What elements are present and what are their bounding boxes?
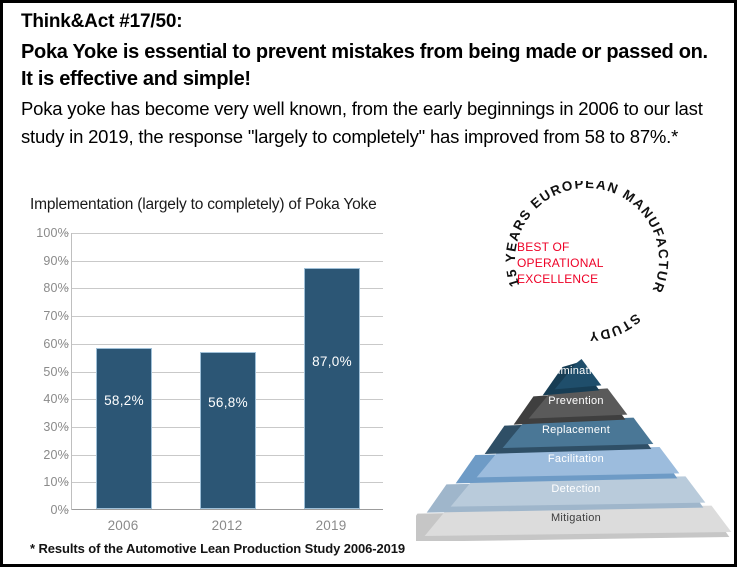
y-axis-tick-label: 30% <box>23 420 69 434</box>
y-axis-tick-label: 60% <box>23 337 69 351</box>
pyramid-level-label: Elimination <box>416 365 736 377</box>
y-axis-tick-label: 40% <box>23 392 69 406</box>
header-text-block: Think&Act #17/50: Poka Yoke is essential… <box>21 9 716 151</box>
study-badge: 15 YEARS EUROPEAN MANUFACTURING STUDY BE… <box>501 181 687 341</box>
pyramid-level-label: Mitigation <box>416 512 736 524</box>
y-axis-tick-mark <box>64 316 69 317</box>
page-title: Poka Yoke is essential to prevent mistak… <box>21 39 716 93</box>
pyramid-level-label: Replacement <box>416 424 736 436</box>
chart-title: Implementation (largely to completely) o… <box>30 196 377 214</box>
plot-area: 58,2%56,8%87,0% <box>71 233 383 510</box>
y-axis: 0%10%20%30%40%50%60%70%80%90%100% <box>21 233 69 510</box>
x-axis-tick-label: 2006 <box>71 518 175 533</box>
pyramid-level-label: Facilitation <box>416 453 736 465</box>
y-axis-tick-mark <box>64 233 69 234</box>
x-axis-tick-label: 2012 <box>175 518 279 533</box>
y-axis-tick-label: 50% <box>23 365 69 379</box>
y-axis-tick-mark <box>64 427 69 428</box>
y-axis-tick-label: 90% <box>23 254 69 268</box>
y-axis-tick-mark <box>64 455 69 456</box>
y-axis-tick-mark <box>64 510 69 511</box>
y-axis-tick-label: 100% <box>23 226 69 240</box>
gridline <box>72 233 383 234</box>
pyramid-level-label: Detection <box>416 483 736 495</box>
bar-value-label: 56,8% <box>201 395 255 410</box>
bar-value-label: 58,2% <box>97 393 151 408</box>
y-axis-tick-mark <box>64 344 69 345</box>
y-axis-tick-label: 70% <box>23 309 69 323</box>
y-axis-tick-label: 10% <box>23 475 69 489</box>
bar: 87,0% <box>304 268 360 509</box>
y-axis-tick-mark <box>64 482 69 483</box>
poka-yoke-pyramid: MitigationDetectionFacilitationReplaceme… <box>416 355 736 541</box>
footnote: * Results of the Automotive Lean Product… <box>30 541 405 556</box>
bar: 56,8% <box>200 352 256 509</box>
y-axis-tick-mark <box>64 261 69 262</box>
svg-text:STUDY: STUDY <box>588 311 644 341</box>
eyebrow-title: Think&Act #17/50: <box>21 9 716 35</box>
gridline <box>72 261 383 262</box>
badge-center-line-3: EXCELLENCE <box>517 271 604 287</box>
y-axis-tick-mark <box>64 288 69 289</box>
bar-chart: 0%10%20%30%40%50%60%70%80%90%100% 58,2%5… <box>21 228 396 533</box>
x-axis-tick-label: 2019 <box>279 518 383 533</box>
x-axis-line <box>72 509 383 510</box>
y-axis-tick-label: 20% <box>23 448 69 462</box>
y-axis-tick-mark <box>64 372 69 373</box>
y-axis-tick-label: 80% <box>23 281 69 295</box>
badge-center-line-2: OPERATIONAL <box>517 255 604 271</box>
bar: 58,2% <box>96 348 152 509</box>
bar-value-label: 87,0% <box>305 354 359 369</box>
y-axis-tick-mark <box>64 399 69 400</box>
pyramid-level-label: Prevention <box>416 395 736 407</box>
y-axis-tick-label: 0% <box>23 503 69 517</box>
badge-center-text: BEST OF OPERATIONAL EXCELLENCE <box>517 239 604 287</box>
badge-center-line-1: BEST OF <box>517 239 604 255</box>
slide-canvas: Think&Act #17/50: Poka Yoke is essential… <box>0 0 737 567</box>
header-body-text: Poka yoke has become very well known, fr… <box>21 95 716 151</box>
